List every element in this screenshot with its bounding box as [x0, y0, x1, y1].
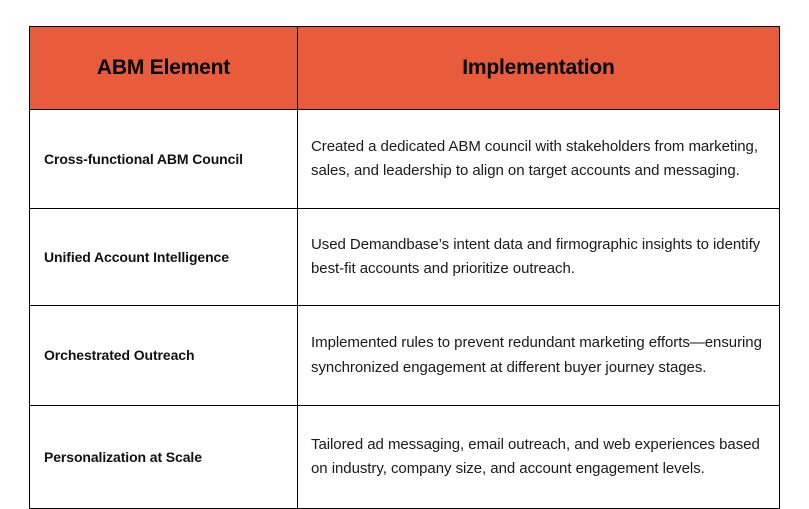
cell-abm-element: Unified Account Intelligence — [30, 209, 298, 306]
abm-table-container: ABM Element Implementation Cross-functio… — [29, 26, 779, 439]
column-header-abm-element: ABM Element — [30, 27, 298, 110]
table-row: Orchestrated Outreach Implemented rules … — [30, 306, 780, 406]
table-row: Unified Account Intelligence Used Demand… — [30, 209, 780, 306]
cell-abm-element: Cross-functional ABM Council — [30, 110, 298, 209]
cell-abm-element: Personalization at Scale — [30, 406, 298, 509]
table-row: Personalization at Scale Tailored ad mes… — [30, 406, 780, 509]
table-header: ABM Element Implementation — [30, 27, 780, 110]
cell-abm-element: Orchestrated Outreach — [30, 306, 298, 406]
header-row: ABM Element Implementation — [30, 27, 780, 110]
cell-implementation: Created a dedicated ABM council with sta… — [298, 110, 780, 209]
table-body: Cross-functional ABM Council Created a d… — [30, 110, 780, 509]
cell-implementation: Tailored ad messaging, email outreach, a… — [298, 406, 780, 509]
table-row: Cross-functional ABM Council Created a d… — [30, 110, 780, 209]
abm-implementation-table: ABM Element Implementation Cross-functio… — [29, 26, 780, 509]
cell-implementation: Implemented rules to prevent redundant m… — [298, 306, 780, 406]
column-header-implementation: Implementation — [298, 27, 780, 110]
page-root: ABM Element Implementation Cross-functio… — [0, 0, 809, 464]
cell-implementation: Used Demandbase’s intent data and firmog… — [298, 209, 780, 306]
